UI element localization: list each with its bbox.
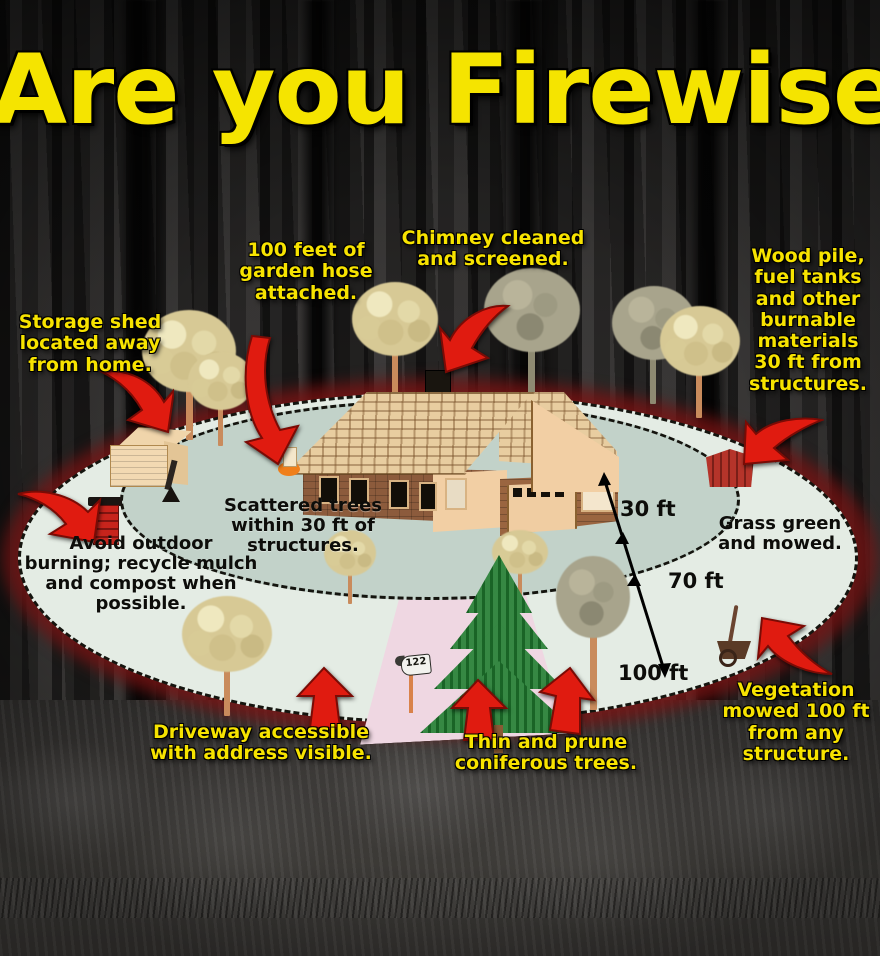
label-wood-pile: Wood pile, fuel tanks and other burnable…: [740, 246, 876, 395]
mailbox-post: [409, 671, 413, 713]
distance-30ft: 30 ft: [620, 498, 676, 522]
arrow-garden-hose: [236, 334, 306, 466]
label-thin-prune: Thin and prune coniferous trees.: [448, 732, 644, 775]
firewise-poster: Are you Firewise?: [0, 0, 880, 956]
mailbox: 122: [395, 655, 431, 713]
distance-100ft: 100 ft: [618, 662, 688, 686]
front-door: [445, 478, 467, 510]
arrow-chimney: [438, 300, 512, 380]
yard-diagram: 122: [0, 0, 880, 956]
label-driveway: Driveway accessible with address visible…: [118, 722, 404, 765]
arrow-thin-prune: [536, 666, 598, 736]
label-vegetation-mowed: Vegetation mowed 100 ft from any structu…: [716, 680, 876, 765]
wheelbarrow-handle: [728, 605, 739, 645]
tree-deciduous: [660, 306, 740, 416]
arrow-wood-pile: [742, 416, 824, 474]
shed-front-wall: [110, 445, 168, 487]
arrow-vegetation: [756, 616, 834, 678]
wheelbarrow-wheel: [719, 649, 737, 667]
arrow-shed: [96, 366, 174, 440]
house-roof-outline: [285, 392, 535, 475]
label-storage-shed: Storage shed located away from home.: [4, 312, 176, 376]
label-avoid-burning: Avoid outdoor burning; recycle mulch and…: [22, 534, 260, 615]
label-grass-mowed: Grass green and mowed.: [700, 514, 860, 554]
label-chimney: Chimney cleaned and screened.: [382, 228, 604, 271]
wheelbarrow: [715, 605, 755, 665]
label-garden-hose: 100 feet of garden hose attached.: [222, 240, 390, 304]
distance-70ft: 70 ft: [668, 570, 724, 594]
